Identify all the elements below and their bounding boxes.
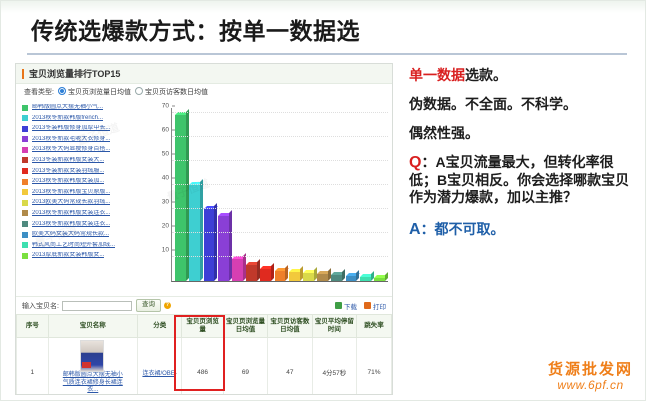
chart-y-tick: 40 bbox=[162, 174, 172, 181]
search-label: 输入宝贝名: bbox=[22, 301, 59, 311]
radio-off-icon[interactable] bbox=[135, 87, 143, 95]
download-label: 下载 bbox=[344, 301, 357, 311]
product-name-link[interactable]: 邮韩版圆点大摆无袖小气质连衣裙修身长裙连衣... bbox=[62, 372, 124, 395]
chart-bar[interactable] bbox=[260, 269, 271, 281]
chart-bar-face bbox=[218, 216, 229, 281]
chart-gridline bbox=[172, 232, 388, 233]
legend-color-swatch bbox=[22, 242, 28, 248]
chart-y-tick: 20 bbox=[162, 222, 172, 229]
legend-item-label: 2013秋冬新款韩版女装加... bbox=[32, 178, 104, 185]
cell-product-name: 邮韩版圆点大摆无袖小气质连衣裙修身长裙连衣...查看评价 bbox=[48, 338, 137, 396]
legend-item[interactable]: 2013秋冬新款韩版女装连衣... bbox=[22, 221, 147, 228]
commentary-line-1-rest: 选款。 bbox=[465, 67, 507, 83]
legend-item-label: 2013秋冬大码显瘦修身百搭... bbox=[32, 146, 110, 153]
answer-text: ：都不可取。 bbox=[421, 221, 505, 237]
legend-item-label: 2013欧美大码常规长款羽绒... bbox=[32, 199, 110, 206]
legend-color-swatch bbox=[22, 221, 28, 227]
answer-block: A：都不可取。 bbox=[409, 221, 641, 238]
download-button[interactable]: 下载 bbox=[335, 301, 357, 311]
legend-item[interactable]: 2013秋冬新款韩版french... bbox=[22, 115, 147, 122]
cell-category: 连衣裙/OBE- bbox=[137, 338, 181, 396]
cell-index: 1 bbox=[17, 338, 49, 396]
legend-item-label: 2013秋冬新款韩版女装连衣... bbox=[32, 210, 110, 217]
legend-item[interactable]: 2013冬装韩版修身加厚中长... bbox=[22, 125, 147, 132]
chart-region: 邮韩版圆点大摆无袖小气...2013秋冬新款韩版french...2013冬装韩… bbox=[16, 100, 392, 296]
chart-bar[interactable] bbox=[289, 272, 300, 281]
header-accent-bar bbox=[22, 69, 24, 79]
table-header-cell[interactable]: 宝贝名称 bbox=[48, 315, 137, 338]
table-head: 序号宝贝名称分类宝贝页浏览量宝贝页浏览量日均值宝贝页访客数日均值宝贝平均停留时间… bbox=[17, 315, 392, 338]
legend-color-swatch bbox=[22, 179, 28, 185]
print-label: 打印 bbox=[373, 301, 386, 311]
table-header-cell[interactable]: 宝贝平均停留时间 bbox=[312, 315, 356, 338]
page-title: 传统选爆款方式：按单一数据选 bbox=[31, 16, 501, 46]
legend-item[interactable]: 2013秋冬新款韩版女装加... bbox=[22, 178, 147, 185]
chart-bar-face bbox=[346, 276, 357, 281]
legend-color-swatch bbox=[22, 200, 28, 206]
chart-bar-face bbox=[275, 271, 286, 281]
question-icon[interactable]: ? bbox=[164, 302, 171, 309]
chart-bar-face bbox=[303, 273, 314, 281]
chart-bar[interactable] bbox=[246, 265, 257, 281]
legend-item-label: 2013秋冬新款韩版french... bbox=[32, 115, 103, 122]
legend-item-label: 欧美大码女装大码常规长款... bbox=[32, 231, 109, 238]
legend-color-swatch bbox=[22, 105, 28, 111]
table-toolbar: 输入宝贝名: 查询 ? 下载 打印 bbox=[16, 296, 392, 314]
chart-legend: 邮韩版圆点大摆无袖小气...2013秋冬新款韩版french...2013冬装韩… bbox=[16, 100, 149, 296]
chart-bar[interactable] bbox=[204, 209, 215, 281]
table-header-cell[interactable]: 宝贝页浏览量 bbox=[182, 315, 223, 338]
chart-plot-area: 10203040506070 bbox=[171, 108, 388, 282]
chart-y-tick: 30 bbox=[162, 198, 172, 205]
commentary-column: 单一数据选款。 伪数据。不全面。不科学。 偶然性强。 Q：A宝贝流量最大，但转化… bbox=[409, 67, 641, 387]
chart-y-tick: 10 bbox=[162, 246, 172, 253]
legend-item[interactable]: 邮韩版圆点大摆无袖小气... bbox=[22, 104, 147, 111]
question-block: Q：A宝贝流量最大，但转化率很低；B宝贝相反。你会选择哪款宝贝作为潜力爆款，加以… bbox=[409, 154, 641, 207]
table-header-cell[interactable]: 序号 bbox=[17, 315, 49, 338]
question-marker: Q bbox=[409, 154, 421, 171]
table-header-cell[interactable]: 宝贝页访客数日均值 bbox=[268, 315, 312, 338]
download-icon bbox=[335, 302, 342, 309]
chart-gridline bbox=[172, 208, 388, 209]
chart-bar[interactable] bbox=[218, 216, 229, 281]
title-block: 传统选爆款方式：按单一数据选 bbox=[31, 16, 501, 56]
commentary-line-2: 伪数据。不全面。不科学。 bbox=[409, 96, 641, 113]
legend-item-label: 韩式风尚工艺时尚短外套加绒... bbox=[32, 242, 115, 249]
commentary-line-1-accent: 单一数据 bbox=[409, 67, 465, 83]
view-option-visitors[interactable]: 宝贝页访客数日均值 bbox=[135, 87, 208, 97]
chart-bar-face bbox=[204, 209, 215, 281]
legend-item-label: 2013秋冬新款韩版宝贝原版... bbox=[32, 189, 110, 196]
toolbar-actions: 下载 打印 bbox=[335, 301, 386, 311]
chart-gridline bbox=[172, 256, 388, 257]
search-input[interactable] bbox=[62, 301, 132, 311]
view-option-visitors-label: 宝贝页访客数日均值 bbox=[145, 89, 208, 96]
chart-bar[interactable] bbox=[331, 275, 342, 281]
chart-bar-face bbox=[360, 277, 371, 281]
legend-item[interactable]: 2013冬装新款女装羽绒服... bbox=[22, 168, 147, 175]
table-header-cell[interactable]: 跳失率 bbox=[357, 315, 392, 338]
print-icon bbox=[364, 302, 371, 309]
chart-plot-wrapper: 10203040506070 bbox=[149, 100, 392, 296]
chart-bar[interactable] bbox=[374, 278, 385, 281]
legend-color-swatch bbox=[22, 115, 28, 121]
view-option-pageviews-label: 宝贝页浏览量日均值 bbox=[68, 89, 131, 96]
legend-item[interactable]: 2013秋冬新款韩版女装连衣... bbox=[22, 210, 147, 217]
view-type-row: 查看类型: 宝贝页浏览量日均值 宝贝页访客数日均值 bbox=[16, 84, 392, 100]
chart-y-tick: 60 bbox=[162, 126, 172, 133]
table-row: 1邮韩版圆点大摆无袖小气质连衣裙修身长裙连衣...查看评价连衣裙/OBE-486… bbox=[17, 338, 392, 396]
chart-y-tick: 50 bbox=[162, 150, 172, 157]
chart-bar-face bbox=[374, 278, 385, 281]
legend-item[interactable]: 2013厚底新款女装韩版女... bbox=[22, 252, 147, 259]
legend-item[interactable]: 韩式风尚工艺时尚短外套加绒... bbox=[22, 242, 147, 249]
chart-bar[interactable] bbox=[360, 277, 371, 281]
legend-item-label: 2013厚底新款女装韩版女... bbox=[32, 252, 104, 259]
radio-on-icon[interactable] bbox=[58, 87, 66, 95]
chart-bar[interactable] bbox=[275, 271, 286, 281]
view-option-pageviews[interactable]: 宝贝页浏览量日均值 bbox=[58, 87, 131, 97]
commentary-line-1: 单一数据选款。 bbox=[409, 67, 641, 84]
legend-item[interactable]: 2013秋冬新款韩版宝贝原版... bbox=[22, 189, 147, 196]
cell-visitors-daily: 47 bbox=[268, 338, 312, 396]
legend-item-label: 2013秋冬新款韩版女装连衣... bbox=[32, 221, 110, 228]
legend-color-swatch bbox=[22, 189, 28, 195]
chart-bar-face bbox=[246, 265, 257, 281]
chart-gridline bbox=[172, 112, 388, 113]
table-header-row: 序号宝贝名称分类宝贝页浏览量宝贝页浏览量日均值宝贝页访客数日均值宝贝平均停留时间… bbox=[17, 315, 392, 338]
chart-bar-face bbox=[317, 274, 328, 281]
panel-header: 宝贝浏览量排行TOP15 bbox=[16, 64, 392, 84]
table-header-cell[interactable]: 宝贝页浏览量日均值 bbox=[223, 315, 267, 338]
legend-item[interactable]: 2013欧美大码常规长款羽绒... bbox=[22, 199, 147, 206]
slide-root: 传统选爆款方式：按单一数据选 宝贝浏览量排行TOP15 查看类型: 宝贝页浏览量… bbox=[0, 0, 646, 401]
legend-color-swatch bbox=[22, 147, 28, 153]
products-table: 序号宝贝名称分类宝贝页浏览量宝贝页浏览量日均值宝贝页访客数日均值宝贝平均停留时间… bbox=[16, 314, 392, 395]
legend-color-swatch bbox=[22, 168, 28, 174]
table-body: 1邮韩版圆点大摆无袖小气质连衣裙修身长裙连衣...查看评价连衣裙/OBE-486… bbox=[17, 338, 392, 396]
legend-color-swatch bbox=[22, 136, 28, 142]
legend-color-swatch bbox=[22, 232, 28, 238]
legend-item[interactable]: 2013秋冬新款毛呢大衣修身... bbox=[22, 136, 147, 143]
legend-color-swatch bbox=[22, 157, 28, 163]
chart-gridline bbox=[172, 184, 388, 185]
legend-item-label: 2013秋冬新款毛呢大衣修身... bbox=[32, 136, 110, 143]
question-text: ：A宝贝流量最大，但转化率很低；B宝贝相反。你会选择哪款宝贝作为潜力爆款，加以主… bbox=[409, 154, 629, 205]
cell-avg-stay: 4分57秒 bbox=[312, 338, 356, 396]
chart-bar-face bbox=[260, 269, 271, 281]
cell-pageviews-daily: 69 bbox=[223, 338, 267, 396]
chart-bar[interactable] bbox=[346, 276, 357, 281]
chart-gridline bbox=[172, 160, 388, 161]
analytics-app-panel: 宝贝浏览量排行TOP15 查看类型: 宝贝页浏览量日均值 宝贝页访客数日均值 邮… bbox=[15, 63, 393, 395]
chart-bar[interactable] bbox=[317, 274, 328, 281]
legend-item-label: 邮韩版圆点大摆无袖小气... bbox=[32, 104, 103, 111]
chart-y-tick: 70 bbox=[162, 102, 172, 109]
print-button[interactable]: 打印 bbox=[364, 301, 386, 311]
chart-bar-face bbox=[331, 275, 342, 281]
cell-pageviews: 486 bbox=[182, 338, 223, 396]
legend-color-swatch bbox=[22, 126, 28, 132]
legend-item[interactable]: 欧美大码女装大码常规长款... bbox=[22, 231, 147, 238]
legend-color-swatch bbox=[22, 210, 28, 216]
commentary-line-3: 偶然性强。 bbox=[409, 125, 641, 142]
legend-item[interactable]: 2013秋冬大码显瘦修身百搭... bbox=[22, 146, 147, 153]
product-thumbnail[interactable] bbox=[80, 340, 104, 372]
panel-title: 宝贝浏览量排行TOP15 bbox=[29, 67, 120, 80]
chart-bar[interactable] bbox=[232, 259, 243, 281]
answer-marker: A bbox=[409, 221, 421, 238]
title-divider bbox=[27, 53, 627, 55]
view-type-label: 查看类型: bbox=[24, 87, 54, 97]
category-suffix: - bbox=[175, 370, 177, 377]
query-button[interactable]: 查询 bbox=[136, 299, 161, 312]
legend-item-label: 2013冬装韩版修身加厚中长... bbox=[32, 125, 110, 132]
chart-bar-face bbox=[289, 272, 300, 281]
chart-bar-side bbox=[385, 272, 388, 281]
legend-color-swatch bbox=[22, 253, 28, 259]
table-header-cell[interactable]: 分类 bbox=[137, 315, 181, 338]
chart-bar-face bbox=[232, 259, 243, 281]
slide-top-band bbox=[1, 1, 645, 13]
chart-bar[interactable] bbox=[303, 273, 314, 281]
cell-bounce-rate: 71% bbox=[357, 338, 392, 396]
legend-item-label: 2013冬装新款韩版女装大... bbox=[32, 157, 104, 164]
category-link[interactable]: 连衣裙/OBE bbox=[142, 371, 174, 377]
chart-gridline bbox=[172, 136, 388, 137]
legend-item[interactable]: 2013冬装新款韩版女装大... bbox=[22, 157, 147, 164]
legend-item-label: 2013冬装新款女装羽绒服... bbox=[32, 168, 104, 175]
